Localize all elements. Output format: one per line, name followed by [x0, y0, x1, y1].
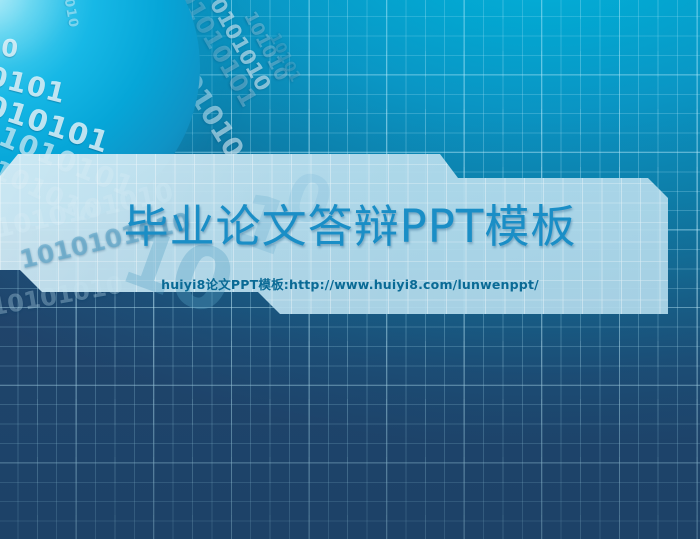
presentation-slide: 10101010 1010101010 01010101 0101010 101…: [0, 0, 700, 539]
slide-title: 毕业论文答辩PPT模板: [0, 190, 700, 255]
slide-subtitle: huiyi8论文PPT模板:http://www.huiyi8.com/lunw…: [0, 274, 700, 293]
